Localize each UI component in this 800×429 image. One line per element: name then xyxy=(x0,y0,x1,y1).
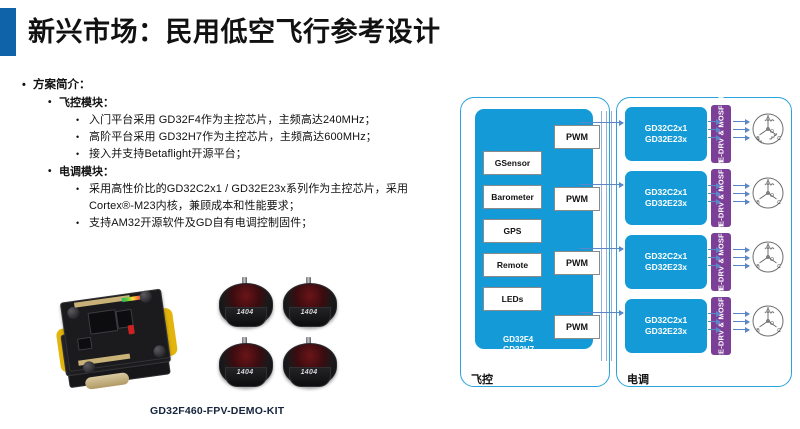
pre-driver-mosfet-1: PRE-DRV & MOSFET xyxy=(711,105,731,163)
esc-mcu-4-line-1: GD32C2x1 xyxy=(645,315,688,326)
motor-image: 1404 xyxy=(215,339,275,391)
bullet-marker-icon: • xyxy=(48,163,59,181)
esc-mcu-2-line-2: GD32E23x xyxy=(645,198,687,209)
svg-text:O: O xyxy=(770,193,774,199)
svg-text:O: O xyxy=(770,321,774,327)
esc-mcu-1-line-2: GD32E23x xyxy=(645,134,687,145)
bullet-g1-item-1: 支持AM32开源软件及GD自有电调控制固件； xyxy=(89,215,452,232)
pwm-output-1: PWM xyxy=(554,125,600,149)
pwm-to-esc-arrow-4 xyxy=(579,312,623,313)
bullet-group-0-label: 飞控模块： xyxy=(59,94,452,112)
esc-mcu-4: GD32C2x1 GD32E23x xyxy=(625,299,707,353)
svg-text:C: C xyxy=(777,328,781,334)
motor-image: 1404 xyxy=(215,279,275,331)
pwm-to-esc-arrow-1 xyxy=(579,122,623,123)
bullet-g1-item-0: 采用高性价比的GD32C2x1 / GD32E23x系列作为主控芯片，采用Cor… xyxy=(89,181,452,215)
esc-mcu-2: GD32C2x1 GD32E23x xyxy=(625,171,707,225)
bullet-marker-icon: • xyxy=(76,181,89,198)
pre-driver-mosfet-3: PRE-DRV & MOSFET xyxy=(711,233,731,291)
list-item: • 入门平台采用 GD32F4作为主控芯片，主频高达240MHz； xyxy=(76,112,452,129)
svg-text:C: C xyxy=(777,200,781,206)
peripheral-remote: Remote xyxy=(483,253,542,277)
esc-panel-label: 电调 xyxy=(627,371,649,387)
svg-text:O: O xyxy=(770,129,774,135)
motor-model-label: 1404 xyxy=(224,309,266,316)
esc-mcu-3-line-1: GD32C2x1 xyxy=(645,251,688,262)
flight-controller-panel-label: 飞控 xyxy=(471,371,493,387)
pwm-output-2: PWM xyxy=(554,187,600,211)
peripheral-leds: LEDs xyxy=(483,287,542,311)
esc-mcu-2-line-1: GD32C2x1 xyxy=(645,187,688,198)
bullet-g0-item-1: 高阶平台采用 GD32H7作为主控芯片，主频高达600MHz； xyxy=(89,129,452,146)
peripheral-gps: GPS xyxy=(483,219,542,243)
bullet-list: • 方案简介： • 飞控模块： • 入门平台采用 GD32F4作为主控芯片，主频… xyxy=(12,76,452,232)
peripheral-gsensor: GSensor xyxy=(483,151,542,175)
fc-mcu-line-2: GD32H7 xyxy=(503,345,534,355)
system-block-diagram: 飞控 电调 GSensor Barometer GPS Remote LEDs … xyxy=(455,95,795,395)
motor-image: 1404 xyxy=(279,339,339,391)
bullet-group-label: • 飞控模块： xyxy=(48,94,452,112)
esc-mcu-1-line-1: GD32C2x1 xyxy=(645,123,688,134)
motor-symbol-4: A B C O xyxy=(751,304,785,338)
list-item: • 支持AM32开源软件及GD自有电调控制固件； xyxy=(76,215,452,232)
svg-text:C: C xyxy=(777,264,781,270)
product-photo: 1404 1404 1404 1404 xyxy=(55,277,340,395)
motor-model-label: 1404 xyxy=(288,309,330,316)
pre-driver-mosfet-4: PRE-DRV & MOSFET xyxy=(711,297,731,355)
esc-mcu-1: GD32C2x1 GD32E23x xyxy=(625,107,707,161)
list-item: • 接入并支持Betaflight开源平台； xyxy=(76,146,452,163)
flight-controller-mcu-label: GD32F4 GD32H7 xyxy=(503,335,534,355)
bullet-marker-icon: • xyxy=(76,129,89,146)
motor-symbol-1: A B C O xyxy=(751,112,785,146)
flight-controller-mcu-block: GSensor Barometer GPS Remote LEDs PWM PW… xyxy=(475,109,593,349)
title-accent-bar xyxy=(0,8,16,56)
bullet-marker-icon: • xyxy=(76,146,89,163)
pwm-to-esc-arrow-2 xyxy=(579,184,623,185)
motor-model-label: 1404 xyxy=(288,369,330,376)
photo-caption: GD32F460-FPV-DEMO-KIT xyxy=(150,405,284,417)
svg-text:C: C xyxy=(777,136,781,142)
bullet-marker-icon: • xyxy=(76,215,89,232)
bullet-marker-icon: • xyxy=(48,94,59,112)
pre-driver-mosfet-2: PRE-DRV & MOSFET xyxy=(711,169,731,227)
motor-model-label: 1404 xyxy=(224,369,266,376)
bullet-g0-item-2: 接入并支持Betaflight开源平台； xyxy=(89,146,452,163)
motor-symbol-3: A B C O xyxy=(751,240,785,274)
page-title: 新兴市场：民用低空飞行参考设计 xyxy=(28,8,441,56)
esc-mcu-4-line-2: GD32E23x xyxy=(645,326,687,337)
list-item: • 采用高性价比的GD32C2x1 / GD32E23x系列作为主控芯片，采用C… xyxy=(76,181,452,215)
bullet-group-1-label: 电调模块： xyxy=(59,163,452,181)
peripheral-barometer: Barometer xyxy=(483,185,542,209)
list-item: • 高阶平台采用 GD32H7作为主控芯片，主频高达600MHz； xyxy=(76,129,452,146)
pwm-output-4: PWM xyxy=(554,315,600,339)
motor-image: 1404 xyxy=(279,279,339,331)
svg-text:O: O xyxy=(770,257,774,263)
bullet-heading: • 方案简介： xyxy=(22,76,452,94)
pwm-output-3: PWM xyxy=(554,251,600,275)
pwm-to-esc-arrow-3 xyxy=(579,248,623,249)
bullet-g0-item-0: 入门平台采用 GD32F4作为主控芯片，主频高达240MHz； xyxy=(89,112,452,129)
bullet-group-label: • 电调模块： xyxy=(48,163,452,181)
bullet-marker-icon: • xyxy=(76,112,89,129)
bullet-marker-icon: • xyxy=(22,76,33,94)
flight-controller-stack-image xyxy=(50,273,186,399)
esc-mcu-3-line-2: GD32E23x xyxy=(645,262,687,273)
esc-mcu-3: GD32C2x1 GD32E23x xyxy=(625,235,707,289)
motor-symbol-2: A B C O xyxy=(751,176,785,210)
slide-title-bar: 新兴市场：民用低空飞行参考设计 xyxy=(0,8,800,56)
fc-mcu-line-1: GD32F4 xyxy=(503,335,534,345)
bullet-heading-label: 方案简介： xyxy=(33,76,452,94)
